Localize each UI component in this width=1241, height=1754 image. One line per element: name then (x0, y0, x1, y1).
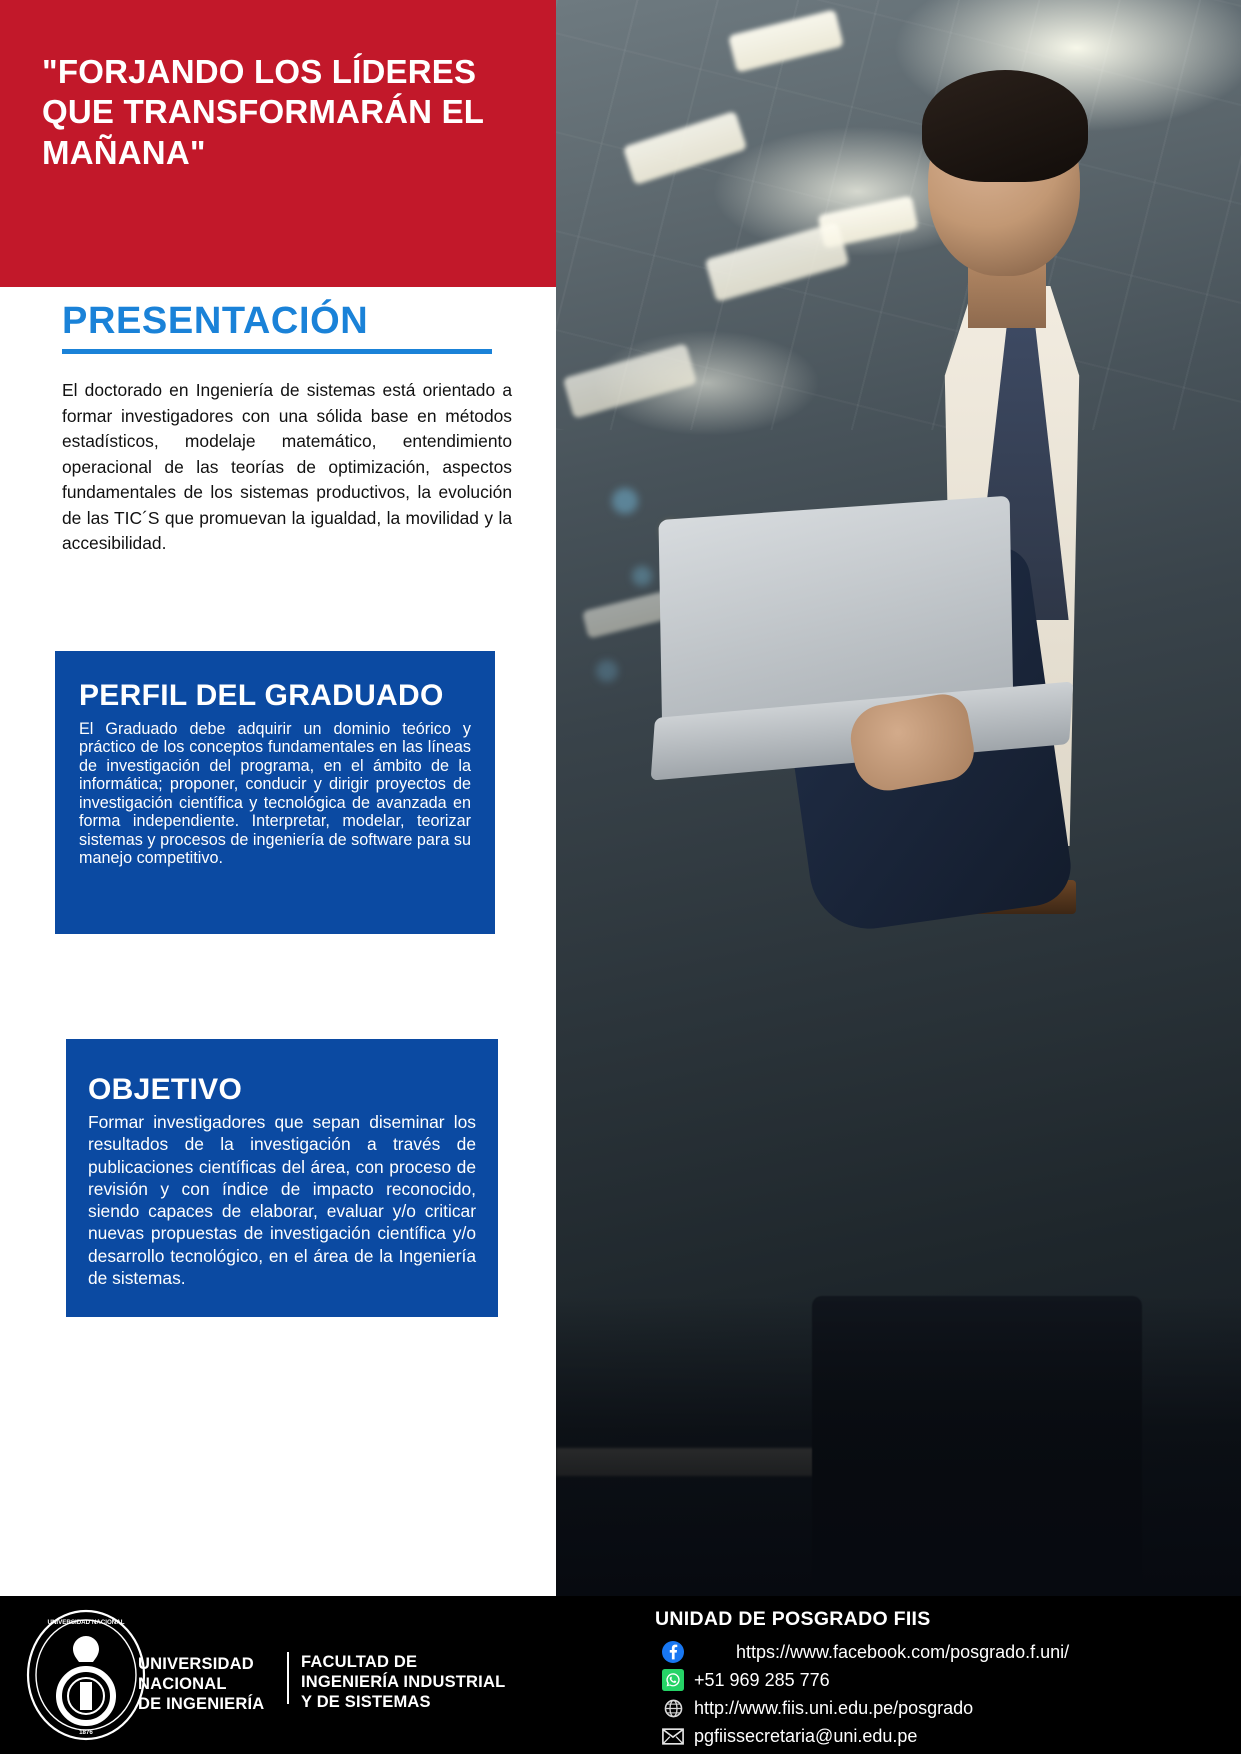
contact-heading: UNIDAD DE POSGRADO FIIS (655, 1608, 931, 1631)
presentation-title: PRESENTACIÓN (62, 300, 492, 343)
email-address: pgfiissecretaria@uni.edu.pe (694, 1726, 917, 1747)
faculty-line-3: Y DE SISTEMAS (301, 1692, 505, 1712)
svg-text:1876: 1876 (79, 1729, 93, 1736)
card-perfil-del-graduado: PERFIL DEL GRADUADO El Graduado debe adq… (55, 651, 495, 934)
website-url: http://www.fiis.uni.edu.pe/posgrado (694, 1698, 973, 1719)
card-objetivo: OBJETIVO Formar investigadores que sepan… (66, 1039, 498, 1317)
bokeh-dot (612, 488, 638, 514)
globe-icon (660, 1695, 686, 1721)
bokeh-dot (596, 660, 618, 682)
hero-photo (556, 0, 1241, 1596)
university-name: UNIVERSIDAD NACIONAL DE INGENIERÍA (138, 1654, 264, 1714)
uni-seal-logo: UNIVERSIDAD NACIONAL 1876 (24, 1608, 148, 1742)
faculty-name: FACULTAD DE INGENIERÍA INDUSTRIAL Y DE S… (301, 1652, 505, 1712)
headline-text: "FORJANDO LOS LÍDERES QUE TRANSFORMARÁN … (42, 52, 534, 173)
presentation-body: El doctorado en Ingeniería de sistemas e… (62, 378, 512, 557)
contact-row-whatsapp[interactable]: +51 969 285 776 (660, 1666, 1240, 1694)
university-line-2: NACIONAL (138, 1674, 264, 1694)
contact-row-website[interactable]: http://www.fiis.uni.edu.pe/posgrado (660, 1694, 1240, 1722)
title-underline (62, 349, 492, 354)
footer-divider (287, 1652, 289, 1704)
foreground-shadow (556, 1296, 1241, 1596)
bokeh-dot (632, 566, 652, 586)
contact-row-email[interactable]: pgfiissecretaria@uni.edu.pe (660, 1722, 1240, 1750)
left-content-column: "FORJANDO LOS LÍDERES QUE TRANSFORMARÁN … (0, 0, 556, 1596)
perfil-body: El Graduado debe adquirir un dominio teó… (79, 720, 471, 868)
headline-band: "FORJANDO LOS LÍDERES QUE TRANSFORMARÁN … (0, 0, 556, 287)
university-line-1: UNIVERSIDAD (138, 1654, 264, 1674)
objetivo-body: Formar investigadores que sepan disemina… (88, 1111, 476, 1289)
svg-text:UNIVERSIDAD NACIONAL: UNIVERSIDAD NACIONAL (47, 1619, 124, 1626)
faculty-line-1: FACULTAD DE (301, 1652, 505, 1672)
whatsapp-icon (660, 1667, 686, 1693)
facebook-icon (660, 1639, 686, 1665)
email-icon (660, 1723, 686, 1749)
perfil-title: PERFIL DEL GRADUADO (79, 679, 471, 714)
facebook-url: https://www.facebook.com/posgrado.f.uni/ (694, 1642, 1069, 1663)
poster-root: "FORJANDO LOS LÍDERES QUE TRANSFORMARÁN … (0, 0, 1241, 1754)
presentation-heading: PRESENTACIÓN (62, 300, 492, 354)
faculty-line-2: INGENIERÍA INDUSTRIAL (301, 1672, 505, 1692)
whatsapp-number: +51 969 285 776 (694, 1670, 830, 1691)
objetivo-title: OBJETIVO (88, 1073, 476, 1107)
person-hair (922, 70, 1088, 182)
contact-list: https://www.facebook.com/posgrado.f.uni/… (660, 1638, 1240, 1750)
contact-row-facebook[interactable]: https://www.facebook.com/posgrado.f.uni/ (660, 1638, 1240, 1666)
university-line-3: DE INGENIERÍA (138, 1694, 264, 1714)
